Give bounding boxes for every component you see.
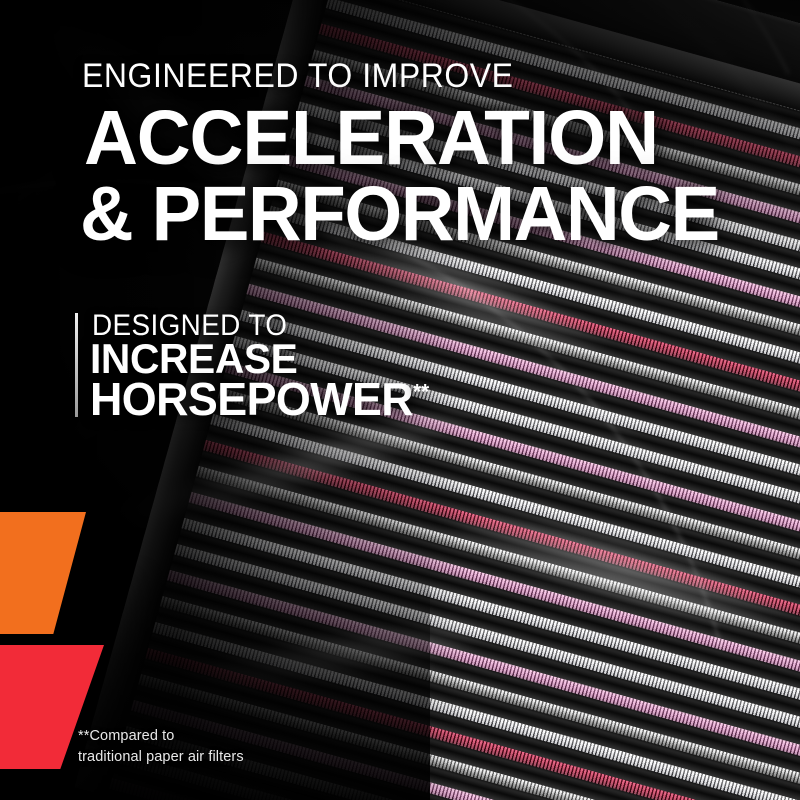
subhead-accent-rule [75, 313, 78, 417]
promo-banner: ENGINEERED TO IMPROVE ACCELERATION & PER… [0, 0, 800, 800]
footnote: **Compared to traditional paper air filt… [78, 726, 244, 767]
headline-eyebrow: ENGINEERED TO IMPROVE [82, 57, 514, 96]
footnote-line-2: traditional paper air filters [78, 747, 244, 768]
headline-line-1: ACCELERATION [84, 100, 658, 177]
footnote-line-1: **Compared to [78, 726, 244, 747]
headline-line-2: & PERFORMANCE [80, 176, 719, 253]
footnote-marker: ** [413, 381, 429, 404]
subhead-line-2: HORSEPOWER** [90, 376, 429, 422]
subhead-line-2-text: HORSEPOWER [90, 373, 413, 425]
